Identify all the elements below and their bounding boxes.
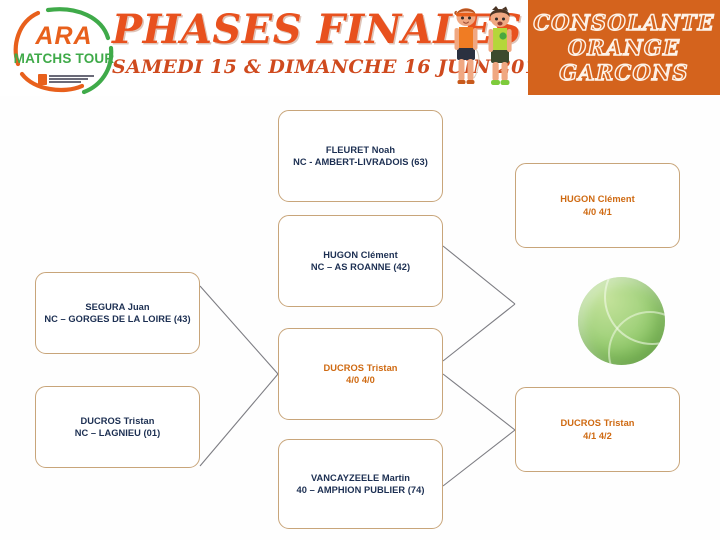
bracket-node-ducros-tristan-r1[interactable]: DUCROS Tristan NC – LAGNIEU (01) — [35, 386, 200, 468]
player-detail: NC – AS ROANNE (42) — [311, 261, 410, 274]
player-name: DUCROS Tristan — [560, 418, 634, 428]
bracket-node-vancayzeele-martin[interactable]: VANCAYZEELE Martin 40 – AMPHION PUBLIER … — [278, 439, 443, 529]
match-score: 4/1 4/2 — [560, 430, 634, 443]
bracket-node-text: VANCAYZEELE Martin 40 – AMPHION PUBLIER … — [291, 472, 431, 497]
player-name: HUGON Clément — [323, 250, 398, 260]
player-name: VANCAYZEELE Martin — [311, 473, 410, 483]
player-detail: NC - AMBERT-LIVRADOIS (63) — [293, 156, 428, 169]
category-line-2: ORANGE — [568, 35, 680, 60]
region-logo-icon — [38, 72, 94, 86]
bracket-node-ducros-tristan-r2[interactable]: DUCROS Tristan 4/0 4/0 — [278, 328, 443, 420]
page-subtitle: SAMEDI 15 & DIMANCHE 16 JUIN 2019 — [112, 55, 464, 79]
kids-mascot-icon — [444, 4, 524, 94]
tournament-bracket-page: ARA MATCHS TOUR PHASES FINALES SAMEDI 15… — [0, 0, 720, 540]
category-line-3: GARCONS — [559, 60, 688, 85]
tennis-ball-icon — [578, 277, 665, 365]
category-line-1: CONSOLANTE — [533, 10, 715, 35]
player-detail: 40 – AMPHION PUBLIER (74) — [297, 484, 425, 497]
category-panel: CONSOLANTE ORANGE GARCONS — [528, 0, 720, 95]
player-name: SEGURA Juan — [85, 302, 149, 312]
bracket-node-text: FLEURET Noah NC - AMBERT-LIVRADOIS (63) — [287, 144, 434, 169]
bracket-node-text: DUCROS Tristan NC – LAGNIEU (01) — [69, 415, 167, 440]
bracket-node-hugon-clement-r2[interactable]: HUGON Clément NC – AS ROANNE (42) — [278, 215, 443, 307]
bracket-node-text: HUGON Clément 4/0 4/1 — [554, 193, 641, 218]
bracket-node-text: SEGURA Juan NC – GORGES DE LA LOIRE (43) — [38, 301, 196, 326]
logo-brand-top: ARA — [8, 24, 120, 49]
page-title: PHASES FINALES — [112, 8, 464, 52]
bracket-node-winner-hugon-clement[interactable]: HUGON Clément 4/0 4/1 — [515, 163, 680, 248]
region-logo-lines — [49, 75, 94, 83]
player-detail: NC – GORGES DE LA LOIRE (43) — [44, 313, 190, 326]
match-score: 4/0 4/1 — [560, 206, 635, 219]
bracket-node-text: HUGON Clément NC – AS ROANNE (42) — [305, 249, 416, 274]
header-banner: ARA MATCHS TOUR PHASES FINALES SAMEDI 15… — [0, 0, 720, 96]
bracket-node-segura-juan[interactable]: SEGURA Juan NC – GORGES DE LA LOIRE (43) — [35, 272, 200, 354]
bracket-node-fleuret-noah[interactable]: FLEURET Noah NC - AMBERT-LIVRADOIS (63) — [278, 110, 443, 202]
region-logo-square — [38, 74, 47, 85]
bracket-node-text: DUCROS Tristan 4/1 4/2 — [554, 417, 640, 442]
player-name: FLEURET Noah — [326, 145, 395, 155]
player-name: DUCROS Tristan — [80, 416, 154, 426]
match-score: 4/0 4/0 — [323, 374, 397, 387]
ara-matchs-tour-logo: ARA MATCHS TOUR — [8, 4, 120, 96]
player-name: HUGON Clément — [560, 194, 635, 204]
bracket-node-text: DUCROS Tristan 4/0 4/0 — [317, 362, 403, 387]
player-name: DUCROS Tristan — [323, 363, 397, 373]
bracket-node-winner-ducros-tristan[interactable]: DUCROS Tristan 4/1 4/2 — [515, 387, 680, 472]
bracket-area: SEGURA Juan NC – GORGES DE LA LOIRE (43)… — [0, 96, 720, 540]
logo-brand-bottom: MATCHS TOUR — [8, 52, 120, 66]
player-detail: NC – LAGNIEU (01) — [75, 427, 161, 440]
